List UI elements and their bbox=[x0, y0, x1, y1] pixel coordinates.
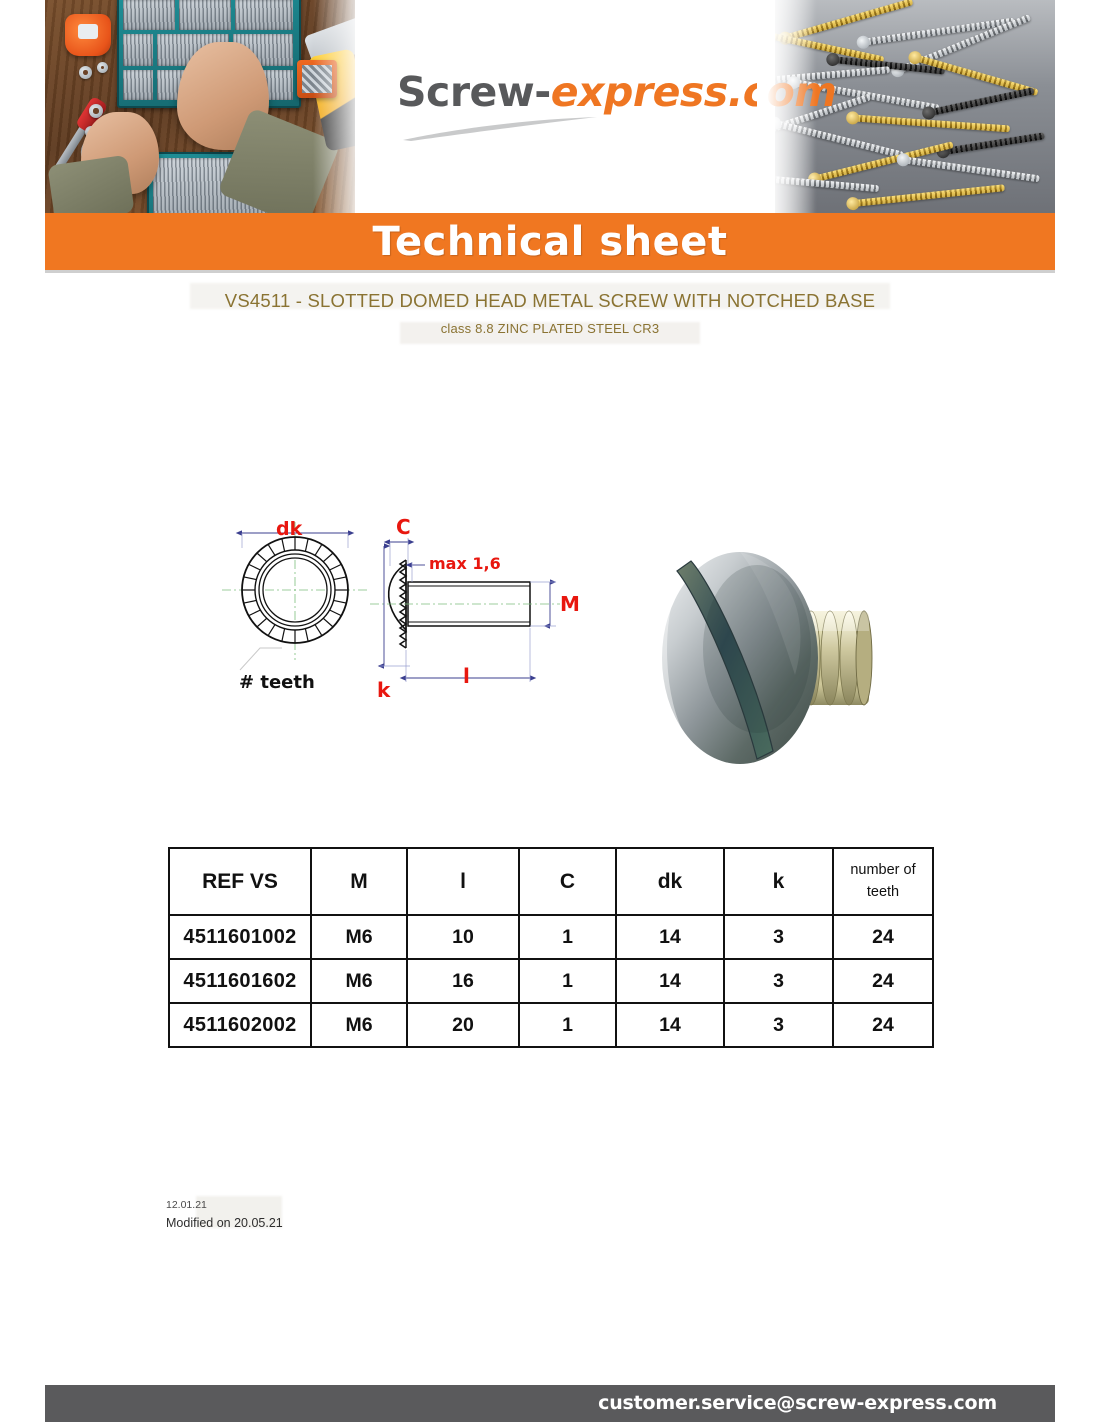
cell-m: M6 bbox=[311, 1003, 407, 1047]
technical-sheet-banner: Technical sheet bbox=[45, 213, 1055, 270]
footer-email[interactable]: customer.service@screw-express.com bbox=[598, 1394, 997, 1413]
label-dk: dk bbox=[276, 518, 302, 540]
date-modified: Modified on 20.05.21 bbox=[166, 1214, 283, 1233]
date-created: 12.01.21 bbox=[166, 1198, 283, 1214]
cell-l: 20 bbox=[407, 1003, 519, 1047]
table-row: 4511601002 M6 10 1 14 3 24 bbox=[169, 915, 933, 959]
banner-divider bbox=[45, 270, 1055, 273]
banner-title: Technical sheet bbox=[373, 222, 728, 262]
cell-c: 1 bbox=[519, 959, 616, 1003]
cell-teeth: 24 bbox=[833, 1003, 933, 1047]
washer bbox=[79, 66, 92, 79]
header-ref-vs: REF VS bbox=[169, 848, 311, 915]
page-header: Screw-express.com bbox=[45, 0, 1055, 213]
document-dates: 12.01.21 Modified on 20.05.21 bbox=[166, 1198, 283, 1233]
logo-primary-text: Screw- bbox=[397, 68, 551, 116]
header-k: k bbox=[724, 848, 833, 915]
header-teeth-line-2: teeth bbox=[834, 882, 932, 904]
cell-ref: 4511601602 bbox=[169, 959, 311, 1003]
header-l: l bbox=[407, 848, 519, 915]
cell-teeth: 24 bbox=[833, 915, 933, 959]
cell-dk: 14 bbox=[616, 1003, 724, 1047]
page-title: VS4511 - SLOTTED DOMED HEAD METAL SCREW … bbox=[45, 290, 1055, 312]
header-m: M bbox=[311, 848, 407, 915]
table-header-row: REF VS M l C dk k number of teeth bbox=[169, 848, 933, 915]
logo-secondary-text: express.com bbox=[551, 68, 837, 116]
label-m: M bbox=[560, 592, 580, 616]
site-logo[interactable]: Screw-express.com bbox=[397, 72, 757, 113]
drawing-bottom-view bbox=[222, 522, 368, 670]
logo-area: Screw-express.com bbox=[355, 0, 775, 213]
label-max-chamfer: max 1,6 bbox=[429, 554, 501, 573]
cell-m: M6 bbox=[311, 959, 407, 1003]
cell-m: M6 bbox=[311, 915, 407, 959]
page-footer: customer.service@screw-express.com bbox=[45, 1385, 1055, 1422]
specifications-table: REF VS M l C dk k number of teeth 451160… bbox=[168, 847, 934, 1048]
cell-l: 10 bbox=[407, 915, 519, 959]
product-photo bbox=[645, 545, 895, 770]
cell-k: 3 bbox=[724, 959, 833, 1003]
header-dk: dk bbox=[616, 848, 724, 915]
label-l: l bbox=[463, 664, 470, 688]
sleeve-left bbox=[47, 155, 134, 213]
cell-c: 1 bbox=[519, 915, 616, 959]
technical-sheet-page: Screw-express.com Technical sheet VS4511… bbox=[0, 0, 1100, 1422]
label-teeth: # teeth bbox=[239, 672, 315, 693]
logo-swoosh-icon bbox=[401, 116, 601, 142]
cell-ref: 4511601002 bbox=[169, 915, 311, 959]
header-c: C bbox=[519, 848, 616, 915]
header-teeth-line-1: number of bbox=[834, 860, 932, 882]
table-row: 4511602002 M6 20 1 14 3 24 bbox=[169, 1003, 933, 1047]
cell-teeth: 24 bbox=[833, 959, 933, 1003]
tape-measure bbox=[65, 14, 111, 56]
cell-dk: 14 bbox=[616, 959, 724, 1003]
cell-ref: 4511602002 bbox=[169, 1003, 311, 1047]
cell-k: 3 bbox=[724, 1003, 833, 1047]
page-subtitle: class 8.8 ZINC PLATED STEEL CR3 bbox=[45, 321, 1055, 336]
cell-k: 3 bbox=[724, 915, 833, 959]
cell-l: 16 bbox=[407, 959, 519, 1003]
technical-drawing: dk # teeth C max 1,6 M l k bbox=[220, 520, 590, 720]
cell-c: 1 bbox=[519, 1003, 616, 1047]
label-c: C bbox=[396, 515, 411, 539]
washer bbox=[97, 62, 108, 73]
header-number-of-teeth: number of teeth bbox=[833, 848, 933, 915]
screw-head bbox=[662, 552, 818, 764]
table-row: 4511601602 M6 16 1 14 3 24 bbox=[169, 959, 933, 1003]
cell-dk: 14 bbox=[616, 915, 724, 959]
label-k: k bbox=[377, 678, 390, 702]
